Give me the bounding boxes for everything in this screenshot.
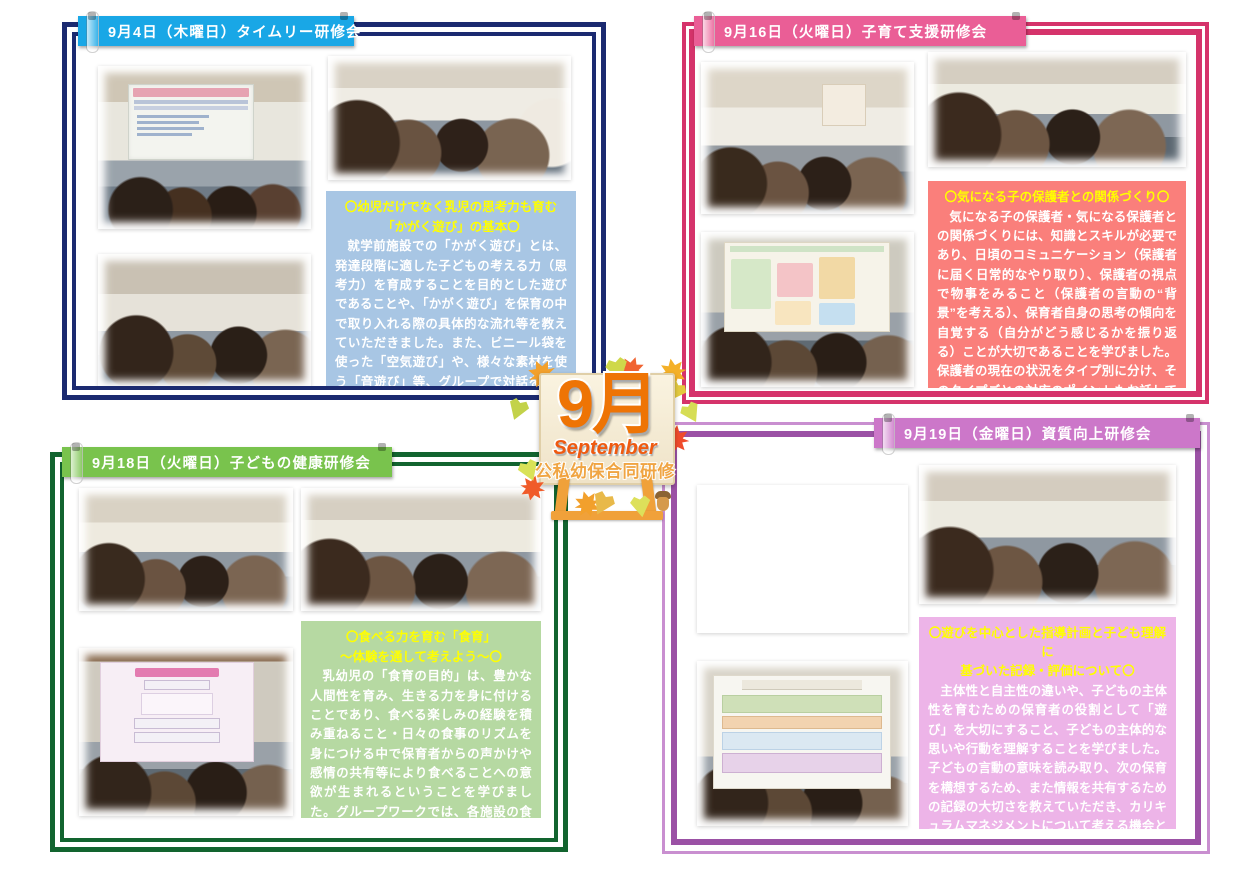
textbox-sep19-body: 主体性と自主性の違いや、子どもの主体性を育むための保育者の役割として「遊び」を大… xyxy=(928,682,1167,837)
panel-sep04-header-banner: 9月4日（木曜日）タイムリー研修会 xyxy=(78,16,354,46)
textbox-sep19-heading-2: 基づいた記録・評価について〇 xyxy=(928,662,1167,681)
pin-icon-left xyxy=(704,12,712,20)
slide-inside-photo-a xyxy=(128,84,254,160)
textbox-sep18: 〇食べる力を育む「食育」 ～体験を通して考えよう～〇 乳幼児の「食育の目的」は、… xyxy=(301,621,541,818)
signboard-crossbar xyxy=(551,511,663,520)
textbox-sep19-heading-1: 〇遊びを中心とした指導計画と子ども理解に xyxy=(928,624,1167,661)
panel-sep19-header-text: 9月19日（金曜日）資質向上研修会 xyxy=(904,423,1152,444)
pin-icon-right xyxy=(1186,414,1194,422)
textbox-sep04-heading-2: 「かがく遊び」の基本〇 xyxy=(335,218,567,237)
panel-sep16-header-banner: 9月16日（火曜日）子育て支援研修会 xyxy=(694,16,1026,46)
photo-seminar-room-wide xyxy=(79,488,293,611)
panel-sep19: 〇遊びを中心とした指導計画と子ども理解に 基づいた記録・評価について〇 主体性と… xyxy=(662,422,1210,854)
curriculum-slide-inside-photo xyxy=(713,675,891,789)
pin-icon-left xyxy=(884,414,892,422)
photo-auditorium-audience xyxy=(701,62,914,214)
pin-icon-right xyxy=(340,12,348,20)
textbox-sep18-body: 乳幼児の「食育の目的」は、豊かな人間性を育み、生きる力を身に付けることであり、食… xyxy=(310,667,532,838)
nutrition-slide-inside-photo xyxy=(100,662,254,762)
panel-sep18-header-text: 9月18日（火曜日）子どもの健康研修会 xyxy=(92,452,371,473)
pin-icon-right xyxy=(1012,12,1020,20)
photo-materials-activity xyxy=(98,254,311,386)
september-emblem: 9月 September 公私幼保合同研修 xyxy=(505,345,705,530)
panel-sep19-body: 〇遊びを中心とした指導計画と子ども理解に 基づいた記録・評価について〇 主体性と… xyxy=(679,439,1193,837)
panel-sep18: 〇食べる力を育む「食育」 ～体験を通して考えよう～〇 乳幼児の「食育の目的」は、… xyxy=(50,452,568,852)
emblem-month-number: 9月 xyxy=(551,370,663,440)
photo-group-worktables xyxy=(328,56,571,180)
panel-sep04-header-text: 9月4日（木曜日）タイムリー研修会 xyxy=(108,21,362,42)
emblem-subtitle: 公私幼保合同研修 xyxy=(507,457,703,482)
acorn-icon xyxy=(655,491,671,511)
book-slide-inside-photo xyxy=(724,242,890,332)
panel-sep16-body: 〇気になる子の保護者との関係づくり〇 気になる子の保護者・気になる保護者との関係… xyxy=(696,36,1195,390)
photo-group-discussion-left xyxy=(697,485,908,633)
pin-icon-right xyxy=(378,443,386,451)
panel-sep18-header-banner: 9月18日（火曜日）子どもの健康研修会 xyxy=(62,447,392,477)
panel-sep18-body: 〇食べる力を育む「食育」 ～体験を通して考えよう～〇 乳幼児の「食育の目的」は、… xyxy=(64,466,554,838)
textbox-sep16-body: 気になる子の保護者・気になる保護者との関係づくりには、知識とスキルが必要であり、… xyxy=(937,208,1177,390)
textbox-sep04-heading-1: 〇幼児だけでなく乳児の思考力も育む xyxy=(335,198,567,217)
panel-sep19-header-banner: 9月19日（金曜日）資質向上研修会 xyxy=(874,418,1200,448)
photo-group-discussion-right xyxy=(919,465,1176,604)
pin-icon-left xyxy=(88,12,96,20)
panel-sep04: 〇幼児だけでなく乳児の思考力も育む 「かがく遊び」の基本〇 就学前施設での「かが… xyxy=(62,22,606,400)
textbox-sep18-heading-1: 〇食べる力を育む「食育」 xyxy=(310,628,532,647)
panel-sep16: 〇気になる子の保護者との関係づくり〇 気になる子の保護者・気になる保護者との関係… xyxy=(682,22,1209,404)
panel-sep04-body: 〇幼児だけでなく乳児の思考力も育む 「かがく遊び」の基本〇 就学前施設での「かが… xyxy=(76,36,592,386)
newsletter-page: 〇幼児だけでなく乳児の思考力も育む 「かがく遊び」の基本〇 就学前施設での「かが… xyxy=(0,0,1237,870)
slide-inside-photo-auditorium xyxy=(822,84,866,126)
panel-sep16-header-text: 9月16日（火曜日）子育て支援研修会 xyxy=(724,21,987,42)
textbox-sep19: 〇遊びを中心とした指導計画と子ども理解に 基づいた記録・評価について〇 主体性と… xyxy=(919,617,1176,829)
textbox-sep16-heading-1: 〇気になる子の保護者との関係づくり〇 xyxy=(937,188,1177,207)
pin-icon-left xyxy=(72,443,80,451)
photo-seated-participants xyxy=(928,52,1186,167)
textbox-sep18-heading-2: ～体験を通して考えよう～〇 xyxy=(310,648,532,667)
textbox-sep16: 〇気になる子の保護者との関係づくり〇 気になる子の保護者・気になる保護者との関係… xyxy=(928,181,1186,388)
